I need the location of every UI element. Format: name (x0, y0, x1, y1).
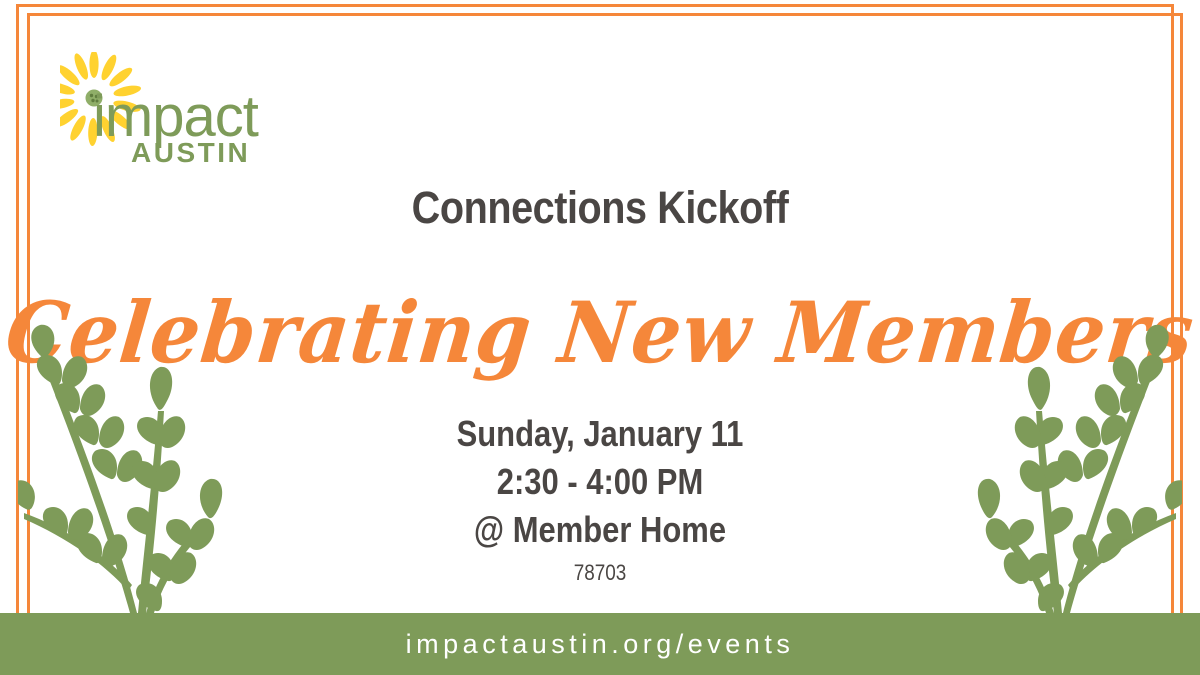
event-zip: 78703 (84, 560, 1116, 586)
event-time: 2:30 - 4:00 PM (84, 461, 1116, 503)
event-location: @ Member Home (84, 509, 1116, 551)
footer-url[interactable]: impactaustin.org/events (406, 629, 795, 660)
svg-text:AUSTIN: AUSTIN (131, 137, 250, 168)
page-title: Connections Kickoff (72, 182, 1128, 234)
impact-austin-logo: impact AUSTIN (60, 52, 290, 172)
event-date: Sunday, January 11 (84, 413, 1116, 455)
headline-script: Celebrating New Members (0, 284, 1200, 382)
footer-bar: impactaustin.org/events (0, 613, 1200, 675)
event-flyer: impact AUSTIN Connections Kickoff Celebr… (0, 0, 1200, 675)
